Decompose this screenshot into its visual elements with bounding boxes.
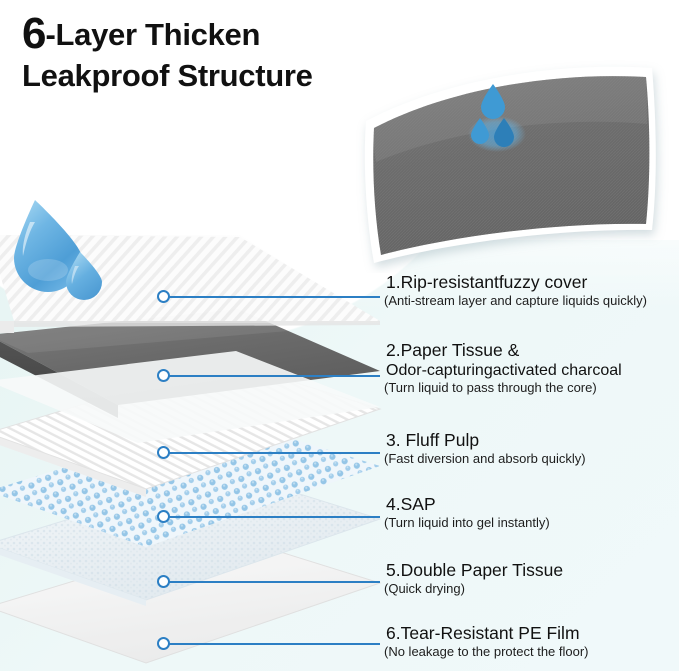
- layer-3-title: 3. Fluff Pulp: [386, 430, 679, 451]
- layer-4-title: 4.SAP: [386, 494, 679, 515]
- layer-caption-4: 4.SAP (Turn liquid into gel instantly): [386, 494, 679, 531]
- layer-caption-1: 1.Rip-resistantfuzzy cover (Anti-stream …: [386, 272, 679, 309]
- layer-2-subtitle: (Turn liquid to pass through the core): [384, 380, 679, 396]
- connector-5-marker: [157, 575, 170, 588]
- layer-6-subtitle: (No leakage to the protect the floor): [384, 644, 679, 660]
- layer-4-subtitle: (Turn liquid into gel instantly): [384, 515, 679, 531]
- layer-5-title: 5.Double Paper Tissue: [386, 560, 679, 581]
- layer-caption-2: 2.Paper Tissue & Odor-capturingactivated…: [386, 340, 679, 396]
- layer-6-title: 6.Tear-Resistant PE Film: [386, 623, 679, 644]
- layer-1-title: 1.Rip-resistantfuzzy cover: [386, 272, 679, 293]
- layer-1-subtitle: (Anti-stream layer and capture liquids q…: [384, 293, 679, 309]
- layer-caption-list: 1.Rip-resistantfuzzy cover (Anti-stream …: [386, 0, 679, 671]
- connector-3-marker: [157, 446, 170, 459]
- page-title: 6-Layer Thicken Leakproof Structure: [22, 14, 313, 97]
- connector-4-marker: [157, 510, 170, 523]
- water-droplet-group: [2, 196, 122, 308]
- connector-3-line: [168, 452, 380, 454]
- title-line-2: Leakproof Structure: [22, 55, 313, 97]
- title-line-1-rest: -Layer Thicken: [45, 17, 260, 52]
- title-number-six: 6: [22, 9, 45, 58]
- layer-3-subtitle: (Fast diversion and absorb quickly): [384, 451, 679, 467]
- connector-2-marker: [157, 369, 170, 382]
- connector-5-line: [168, 581, 380, 583]
- connector-4-line: [168, 516, 380, 518]
- connector-6-marker: [157, 637, 170, 650]
- layer-2-title-line-2: Odor-capturingactivated charcoal: [386, 361, 679, 380]
- connector-6-line: [168, 643, 380, 645]
- droplet-large-gloss: [28, 259, 68, 281]
- layer-2-title: 2.Paper Tissue &: [386, 340, 679, 361]
- layer-5-subtitle: (Quick drying): [384, 581, 679, 597]
- layer-caption-6: 6.Tear-Resistant PE Film (No leakage to …: [386, 623, 679, 660]
- infographic-canvas: 6-Layer Thicken Leakproof Structure: [0, 0, 679, 671]
- connector-1-line: [168, 296, 380, 298]
- title-line-1: 6-Layer Thicken: [22, 14, 313, 55]
- layer-caption-5: 5.Double Paper Tissue (Quick drying): [386, 560, 679, 597]
- connector-2-line: [168, 375, 380, 377]
- layer-caption-3: 3. Fluff Pulp (Fast diversion and absorb…: [386, 430, 679, 467]
- connector-1-marker: [157, 290, 170, 303]
